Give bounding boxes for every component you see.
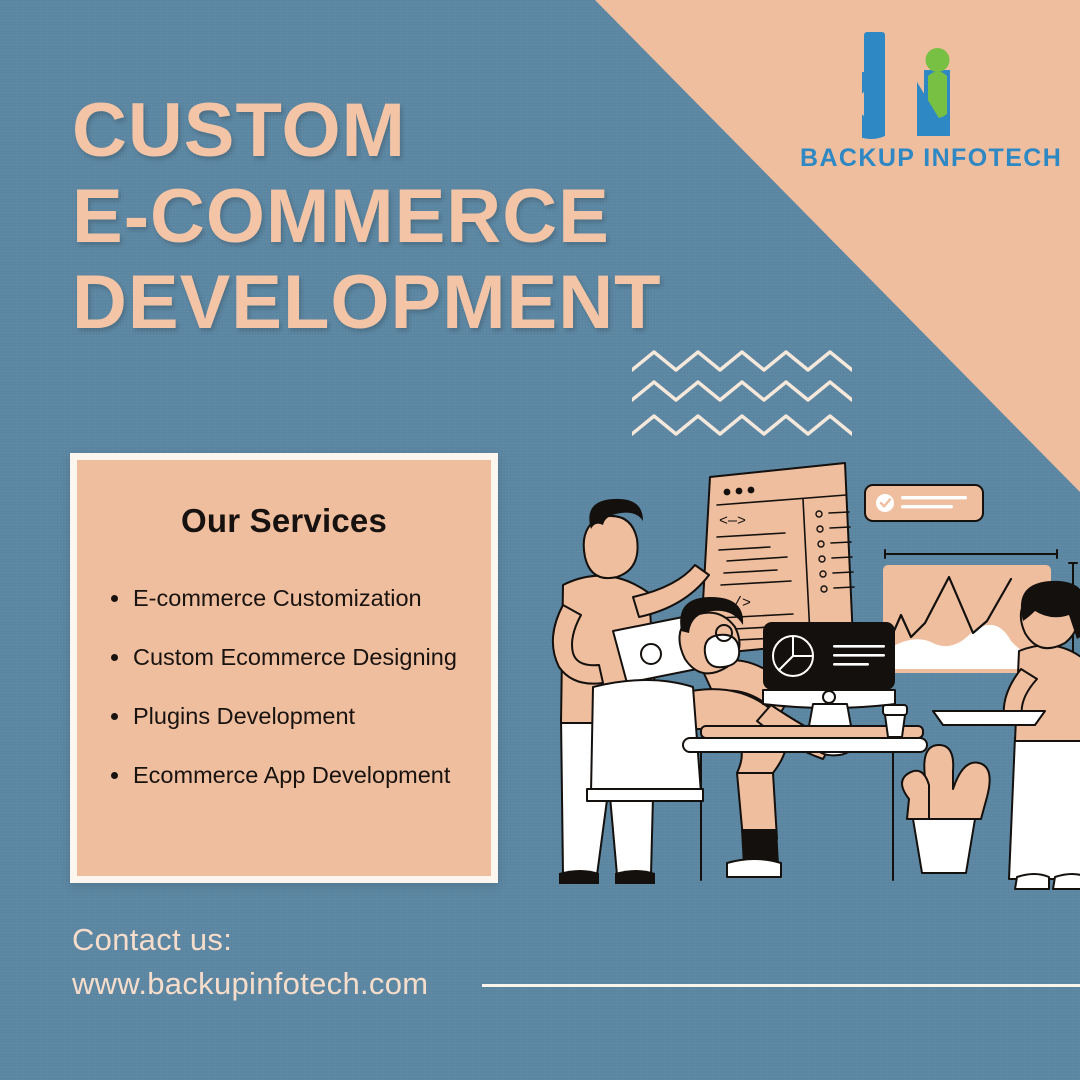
- desk: [683, 726, 927, 880]
- potted-cactus-icon: [902, 745, 990, 873]
- list-item: Ecommerce App Development: [133, 761, 491, 789]
- services-list: E-commerce Customization Custom Ecommerc…: [77, 584, 491, 789]
- contact-divider: [482, 984, 1080, 987]
- services-title: Our Services: [77, 502, 491, 540]
- services-card: Our Services E-commerce Customization Cu…: [70, 453, 498, 883]
- brand-name: BACKUP INFOTECH: [800, 144, 1045, 173]
- contact-label: Contact us:: [72, 918, 428, 962]
- coffee-cup: [883, 705, 907, 737]
- zigzag-lines-icon: [632, 348, 852, 440]
- headline-line-3: DEVELOPMENT: [72, 260, 662, 346]
- team-working-illustration: .sk { fill: #efbe9f; } .wh { fill: #ffff…: [505, 455, 1080, 925]
- poster-canvas: BACKUP INFOTECH CUSTOM E-COMMERCE DEVELO…: [0, 0, 1080, 1080]
- backup-infotech-logo-icon: [862, 30, 982, 142]
- list-item: E-commerce Customization: [133, 584, 491, 612]
- list-item: Custom Ecommerce Designing: [133, 643, 491, 671]
- contact-block: Contact us: www.backupinfotech.com: [72, 918, 428, 1006]
- brand-logo: BACKUP INFOTECH: [800, 30, 1045, 180]
- headline-line-1: CUSTOM: [72, 88, 662, 174]
- page-title: CUSTOM E-COMMERCE DEVELOPMENT: [72, 88, 662, 346]
- headline-line-2: E-COMMERCE: [72, 174, 662, 260]
- approved-card-icon: [865, 485, 983, 521]
- list-item: Plugins Development: [133, 702, 491, 730]
- contact-website[interactable]: www.backupinfotech.com: [72, 962, 428, 1006]
- svg-text:<—>: <—>: [719, 513, 746, 530]
